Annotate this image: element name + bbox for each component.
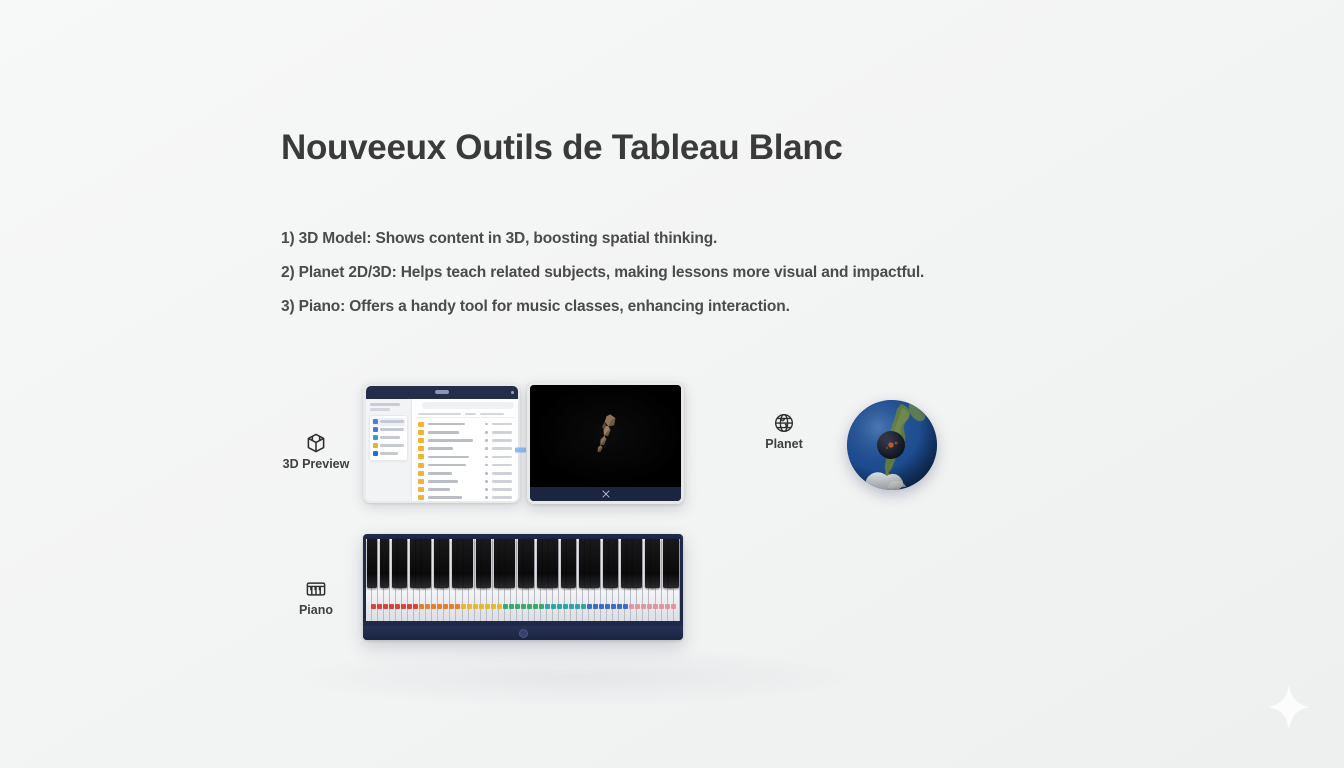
piano-keyboard-image[interactable] [363,534,683,640]
file-name-cell [428,456,469,459]
sidebar-subheading [370,408,390,411]
piano-led [497,604,502,609]
piano-led [455,604,460,609]
piano-led [503,604,508,609]
sidebar-item-label [380,428,404,431]
piano-led [467,604,472,609]
piano-led [473,604,478,609]
file-name-cell [428,464,467,467]
file-count-cell [485,423,488,426]
piano-black-key[interactable] [633,539,642,588]
table-row[interactable] [416,494,514,501]
file-modified-cell [492,439,512,442]
file-table-body [416,418,514,501]
piano-led [647,604,652,609]
tablet-file-browser-screenshot[interactable] [363,383,520,503]
sidebar-item-icon [373,435,378,440]
sidebar-item[interactable] [372,418,405,426]
tool-label-text-piano: Piano [299,603,333,617]
piano-led [431,604,436,609]
name-column[interactable] [418,413,461,416]
file-count-cell [485,488,488,491]
piano-led [419,604,424,609]
piano-led [509,604,514,609]
table-row[interactable] [416,436,514,444]
piano-black-key[interactable] [524,539,533,588]
folder-icon [418,438,424,443]
piano-led [383,604,388,609]
table-row[interactable] [416,453,514,461]
titlebar-title-placeholder [435,390,449,394]
model-3d-viewer-window[interactable] [527,382,684,504]
piano-led [407,604,412,609]
piano-led [641,604,646,609]
file-count-cell [485,472,488,475]
rock-asteroid-3d-model[interactable] [586,409,624,459]
file-count-cell [485,431,488,434]
piano-led [533,604,538,609]
folder-icon [418,446,424,451]
file-modified-cell [492,472,512,475]
piano-black-key[interactable] [506,539,515,588]
file-count-cell [485,464,488,467]
piano-black-key[interactable] [422,539,431,588]
piano-led [563,604,568,609]
piano-black-key[interactable] [549,539,558,588]
file-modified-cell [492,431,512,434]
globe-render [847,400,937,490]
table-row[interactable] [416,469,514,477]
piano-led [581,604,586,609]
sidebar-item-label [380,452,399,455]
feature-item-3d-model: 1) 3D Model: Shows content in 3D, boosti… [281,222,1081,256]
piano-led [371,604,376,609]
search-input[interactable] [422,402,514,409]
piano-led [539,604,544,609]
file-count-cell [485,447,488,450]
piano-led [617,604,622,609]
piano-power-button[interactable] [519,629,528,638]
piano-led [557,604,562,609]
piano-led [521,604,526,609]
page-title: Nouveeux Outils de Tableau Blanc [281,128,843,168]
sidebar-item[interactable] [372,450,405,458]
piano-black-key[interactable] [440,539,449,588]
file-browser-sidebar [366,399,412,501]
viewer-screen [530,385,681,501]
folder-icon [418,479,424,484]
piano-base-bar [363,626,683,640]
piano-led [593,604,598,609]
piano-led [389,604,394,609]
piano-led [551,604,556,609]
piano-led [569,604,574,609]
tool-label-text-3d-preview: 3D Preview [283,457,350,471]
piano-led [611,604,616,609]
titlebar-menu-icon[interactable] [511,391,514,394]
piano-led [377,604,382,609]
file-modified-cell [492,423,512,426]
piano-led [479,604,484,609]
file-name-cell [428,447,453,450]
sidebar-item-icon [373,443,378,448]
piano-black-key[interactable] [464,539,473,588]
file-modified-cell [492,447,512,450]
piano-led [653,604,658,609]
table-row[interactable] [416,477,514,485]
file-name-cell [428,472,452,475]
piano-black-key[interactable] [651,539,660,588]
piano-led [545,604,550,609]
file-name-cell [428,496,463,499]
piano-black-key[interactable] [380,539,389,588]
piano-black-key[interactable] [367,539,376,588]
table-row[interactable] [416,420,514,428]
piano-led [629,604,634,609]
sidebar-item[interactable] [372,434,405,442]
table-row[interactable] [416,461,514,469]
piano-led [599,604,604,609]
folder-icon [418,495,424,500]
piano-drop-shadow [289,648,861,706]
file-modified-cell [492,488,512,491]
piano-keybed[interactable] [366,537,680,621]
folder-icon [418,487,424,492]
piano-led [605,604,610,609]
piano-black-key[interactable] [609,539,618,588]
file-name-cell [428,439,473,442]
piano-led [659,604,664,609]
piano-led [623,604,628,609]
table-row[interactable] [416,486,514,494]
sidebar-item-label [380,444,404,447]
viewer-bottom-bar [530,487,681,501]
piano-led [437,604,442,609]
tool-label-text-planet: Planet [765,437,803,451]
file-name-cell [428,423,466,426]
earth-globe-image[interactable] [847,400,937,490]
piano-led [587,604,592,609]
sidebar-item-label [380,420,404,423]
sidebar-item-label [380,436,400,439]
viewer-stage[interactable] [530,385,681,487]
piano-keys-icon [305,578,327,600]
file-modified-cell [492,480,512,483]
file-name-cell [428,431,460,434]
modified-column[interactable] [480,413,504,416]
piano-led [413,604,418,609]
file-count-cell [485,496,488,499]
piano-black-key[interactable] [567,539,576,588]
tablet-screen [366,386,518,501]
sparkle-watermark-icon [1268,684,1310,730]
table-row[interactable] [416,428,514,436]
piano-black-key[interactable] [482,539,491,588]
sidebar-item[interactable] [372,442,405,450]
piano-black-key[interactable] [669,539,678,588]
tool-label-3d-preview[interactable]: 3D Preview [281,432,351,471]
piano-led [635,604,640,609]
piano-led [395,604,400,609]
cube-3d-icon [305,432,327,454]
piano-led [449,604,454,609]
piano-led [575,604,580,609]
sidebar-item-icon [373,419,378,424]
file-count-cell [485,456,488,459]
file-name-cell [428,480,458,483]
piano-led-strip [366,604,680,610]
folder-icon [418,430,424,435]
sidebar-item-icon [373,427,378,432]
tablet-body [366,399,518,501]
file-modified-cell [492,496,512,499]
piano-led [461,604,466,609]
size-column[interactable] [465,413,476,416]
piano-led [491,604,496,609]
piano-led [401,604,406,609]
sidebar-item-list [369,415,408,461]
folder-icon [418,463,424,468]
piano-led [671,604,676,609]
tool-label-piano[interactable]: Piano [285,578,347,617]
piano-led [485,604,490,609]
piano-led [443,604,448,609]
sidebar-item-icon [373,451,378,456]
folder-icon [418,471,424,476]
file-count-cell [485,480,488,483]
folder-icon [418,454,424,459]
tablet-titlebar [366,386,518,399]
close-icon[interactable] [602,490,610,498]
piano-led [665,604,670,609]
file-modified-cell [492,464,512,467]
file-modified-cell [492,456,512,459]
sidebar-item[interactable] [372,426,405,434]
file-count-cell [485,439,488,442]
feature-list: 1) 3D Model: Shows content in 3D, boosti… [281,222,1081,324]
piano-black-key[interactable] [591,539,600,588]
file-browser-main [412,399,518,501]
tool-label-planet[interactable]: Planet [750,412,818,451]
globe-icon [773,412,795,434]
piano-black-key[interactable] [398,539,407,588]
feature-item-piano: 3) Piano: Offers a handy tool for music … [281,290,1081,324]
feature-item-planet: 2) Planet 2D/3D: Helps teach related sub… [281,256,1081,290]
file-name-cell [428,488,451,491]
sidebar-heading [370,403,400,406]
piano-led [527,604,532,609]
table-row[interactable] [416,445,514,453]
folder-icon [418,422,424,427]
piano-led [515,604,520,609]
piano-led [425,604,430,609]
